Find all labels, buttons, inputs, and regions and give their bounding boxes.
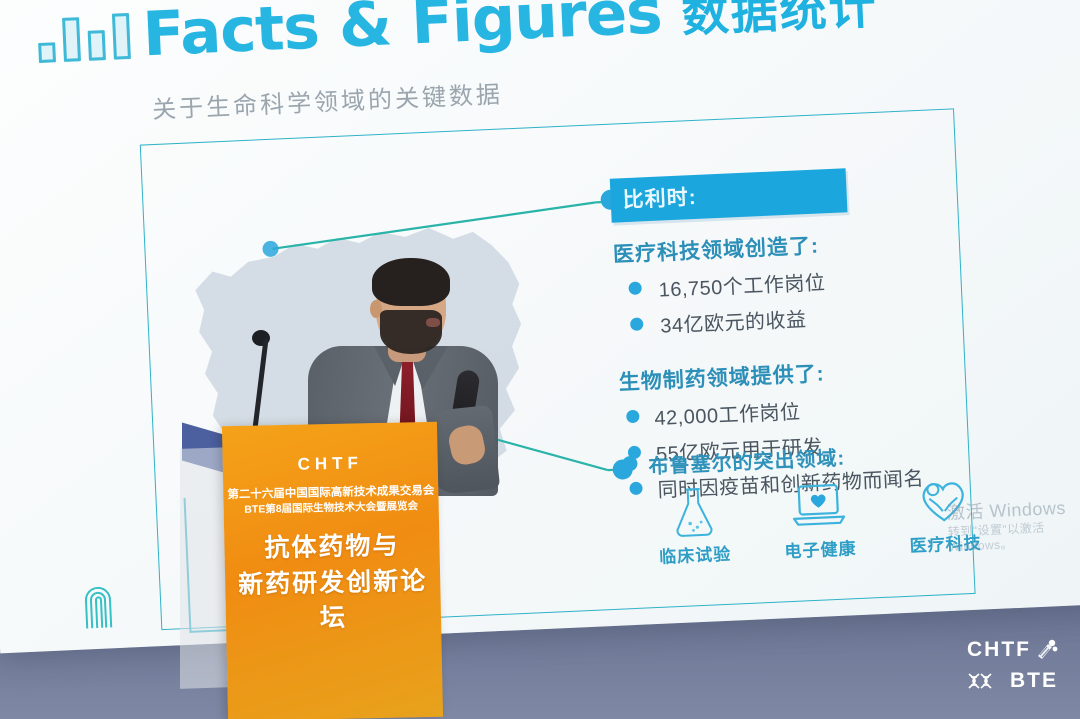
bar-chart-icon [37,13,131,63]
bte-wordmark: BTE [1010,669,1058,693]
watermark-line-2: 转到"设置"以激活 Windows。 [947,518,1080,555]
page-subtitle: 关于生命科学领域的关键数据 [151,74,503,125]
medtech-fact-list: 16,750个工作岗位 34亿欧元的收益 [614,261,957,341]
podium-forum-title-line-1: 抗体药物与 [224,528,440,568]
windows-activation-watermark: 激活 Windows 转到"设置"以激活 Windows。 [946,495,1080,554]
icon-label: 临床试验 [654,540,736,569]
h-logo [79,570,142,633]
podium: CHTF 第二十六届中国国际高新技术成果交易会 BTE第8届国际生物技术大会暨展… [222,422,443,719]
flask-icon [668,484,718,538]
projection-screen: Facts & Figures 数据统计 关于生命科学领域的关键数据 [0,0,1080,653]
brussels-domain-ehealth: 电子健康 [777,478,862,563]
brussels-section: 布鲁塞尔的突出领域: [622,435,987,569]
bte-dna-icon [967,672,1007,690]
title-english: Facts & Figures [141,0,663,70]
slide-content: Facts & Figures 数据统计 关于生命科学领域的关键数据 [1,0,1080,640]
chtf-emblem-icon [1034,638,1058,662]
title-chinese: 数据统计 [681,0,879,43]
podium-event-line-2: BTE第8届国际生物技术大会暨展览会 [224,498,439,517]
list-item: 34亿欧元的收益 [616,296,957,340]
brussels-domain-clinical-trials: 临床试验 [652,484,737,569]
page-title: Facts & Figures 数据统计 [141,0,879,70]
podium-forum-title: 抗体药物与 新药研发创新论坛 [224,528,441,639]
presentation-photo: CHTF [0,0,1080,719]
podium-chtf-logo: CHTF [223,452,438,476]
country-chip: 比利时: [610,168,848,222]
icon-label: 电子健康 [779,534,861,563]
backdrop-brand-logos: CHTF [967,638,1058,693]
chtf-wordmark: CHTF [967,638,1031,662]
laptop-heart-icon [788,479,848,534]
podium-forum-title-line-2: 新药研发创新论坛 [225,563,441,638]
presenter-hair [372,258,450,306]
